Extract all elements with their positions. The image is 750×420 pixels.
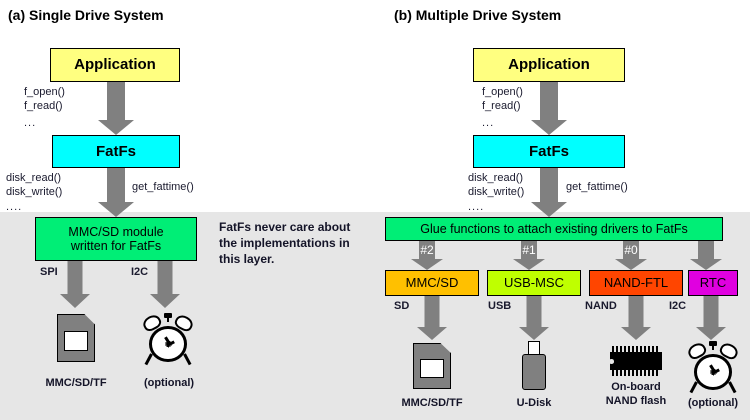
panel-b-bus-label-nand: NAND: [585, 300, 617, 312]
nand-chip-icon: [604, 345, 668, 377]
panel-b-bus-label-i2c: I2C: [669, 300, 686, 312]
panel-b-label-disk-read: disk_read(): [468, 172, 523, 184]
sd-card-icon: [413, 343, 451, 389]
panel-b-bus-label-usb: USB: [488, 300, 511, 312]
panel-b-label-f-read: f_read(): [482, 100, 521, 112]
panel-b-glue-box: Glue functions to attach existing driver…: [385, 217, 723, 241]
panel-b-driver-box-nandftl: NAND-FTL: [589, 270, 683, 296]
panel-b-label-f-ellipsis: ...: [482, 117, 494, 129]
panel-a-bus-label-i2c: I2C: [131, 266, 148, 278]
panel-a-label-f-open: f_open(): [24, 86, 65, 98]
panel-b-device-caption-nand: On-board NAND flash: [595, 380, 677, 408]
panel-b-label-disk-ellipsis: ....: [468, 201, 484, 213]
panel-b-drive-tag-0: #0: [615, 243, 647, 257]
panel-a-application-box: Application: [50, 48, 180, 82]
panel-a-device-caption-rtc: (optional): [128, 376, 210, 390]
panel-b-bus-label-sd: SD: [394, 300, 409, 312]
panel-b-label-f-open: f_open(): [482, 86, 523, 98]
panel-a-module-box: MMC/SD module written for FatFs: [35, 217, 197, 261]
panel-b-arrow-glue-to-rtc: [690, 241, 722, 270]
panel-a-label-get-fattime: get_fattime(): [132, 181, 194, 193]
panel-a-label-f-ellipsis: ...: [24, 117, 36, 129]
panel-a-arrow-app-to-fatfs: [98, 82, 134, 135]
panel-b-title: (b) Multiple Drive System: [394, 7, 561, 23]
panel-b-device-caption-usb: U-Disk: [493, 396, 575, 410]
panel-b-driver-box-usbmsc: USB-MSC: [487, 270, 581, 296]
panel-a-label-disk-ellipsis: ....: [6, 201, 22, 213]
panel-a-device-caption-sd: MMC/SD/TF: [35, 376, 117, 390]
panel-b-drive-tag-2: #2: [411, 243, 443, 257]
sd-card-icon: [57, 314, 95, 362]
panel-b-arrow-bus-sd: [417, 296, 447, 340]
panel-a-bus-label-spi: SPI: [40, 266, 58, 278]
panel-a-note: FatFs never care about the implementatio…: [219, 219, 369, 267]
panel-b-application-box: Application: [473, 48, 625, 82]
panel-a-label-f-read: f_read(): [24, 100, 63, 112]
panel-b-device-caption-sd: MMC/SD/TF: [391, 396, 473, 410]
alarm-clock-icon: [687, 340, 739, 394]
usb-stick-icon: [516, 340, 552, 390]
panel-b-fatfs-box: FatFs: [473, 135, 625, 168]
panel-b-arrow-bus-nand: [621, 296, 651, 340]
panel-a-arrow-spi: [60, 261, 90, 308]
panel-a-arrow-i2c: [150, 261, 180, 308]
panel-b-label-disk-write: disk_write(): [468, 186, 524, 198]
panel-a-fatfs-box: FatFs: [52, 135, 180, 168]
panel-b-drive-tag-1: #1: [513, 243, 545, 257]
alarm-clock-icon: [142, 312, 194, 366]
panel-a-label-disk-write: disk_write(): [6, 186, 62, 198]
panel-b-label-get-fattime: get_fattime(): [566, 181, 628, 193]
panel-a-title: (a) Single Drive System: [8, 7, 164, 23]
panel-b-driver-box-mmcsd: MMC/SD: [385, 270, 479, 296]
panel-b-device-caption-rtc: (optional): [672, 396, 750, 410]
panel-a-arrow-fatfs-to-module: [98, 168, 134, 217]
panel-b-arrow-bus-i2c: [696, 296, 726, 340]
panel-b-arrow-app-to-fatfs: [531, 82, 567, 135]
panel-b-driver-box-rtc: RTC: [688, 270, 738, 296]
panel-b-arrow-fatfs-to-glue: [531, 168, 567, 217]
panel-b-arrow-bus-usb: [519, 296, 549, 340]
panel-a-label-disk-read: disk_read(): [6, 172, 61, 184]
